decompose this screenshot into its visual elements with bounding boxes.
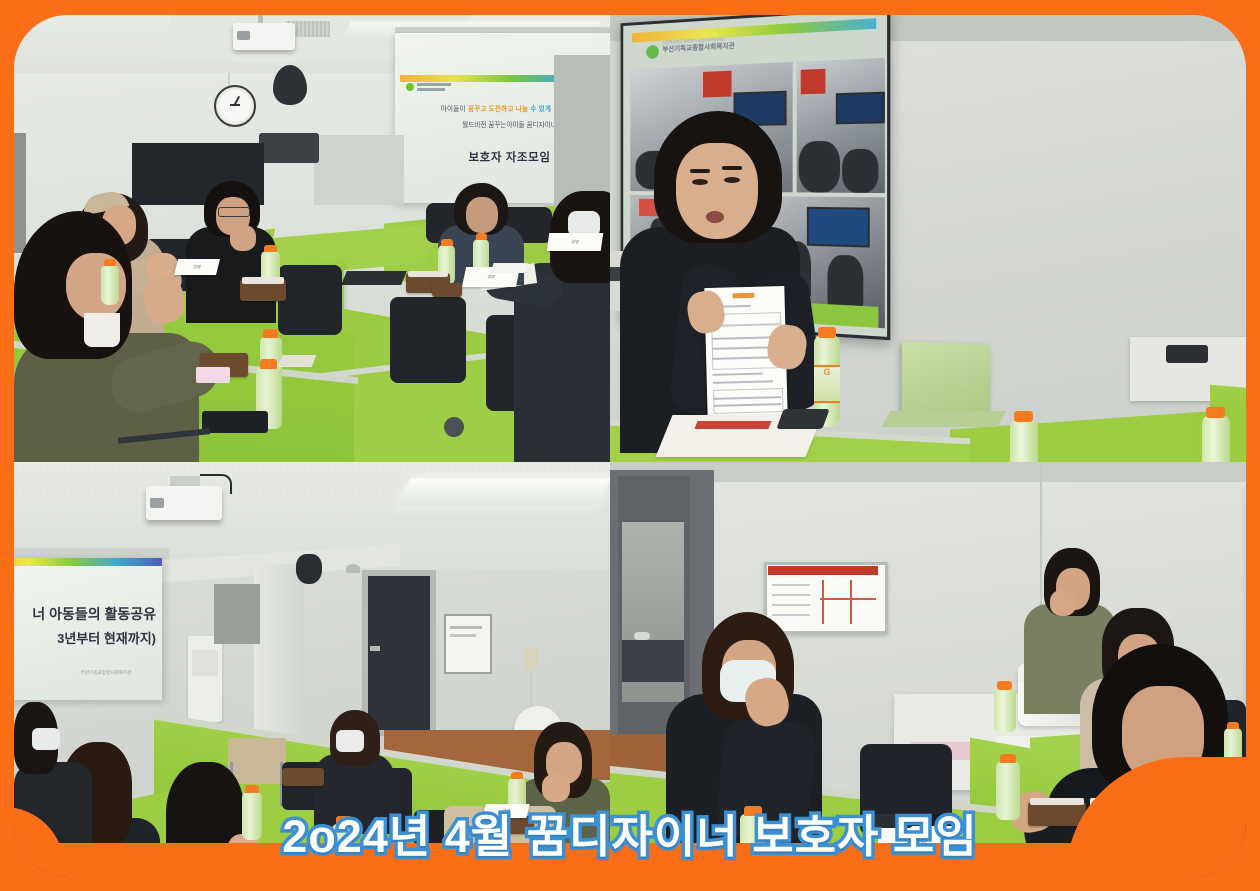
caption-text: 2o24년 4월 꿈디자이너 보호자 모임: [282, 800, 977, 865]
slide-line1: 너 아동들의 활동공유: [14, 604, 156, 624]
snack-box: [282, 768, 324, 786]
bottle-label: G: [814, 365, 840, 403]
drink-bottle: [1202, 415, 1230, 462]
wall-clock-icon: [214, 85, 256, 127]
dome-camera-icon: [346, 564, 360, 573]
caption-banner: 2o24년 4월 꿈디자이너 보호자 모임: [0, 800, 1260, 865]
drink-bottle: [994, 688, 1016, 732]
photo-top-left: 아이들이 꿈꾸고 도전하고 나눌 수 있게 응원하는 월드비전 꿈꾸는아이들 꿈…: [14, 15, 610, 462]
slide-line2: 3년부터 현재까지): [14, 628, 156, 647]
ceiling-speaker-icon: [273, 65, 307, 105]
wall-outlet: [524, 648, 538, 670]
photo-top-right: 사회복지법인 대한예수교장로회복지재단 부산기독교종합사회복지관: [610, 15, 1246, 462]
whiteboard: [444, 614, 492, 674]
phone: [776, 409, 829, 429]
name-card: 성명: [174, 259, 220, 275]
slide-footer: 부산기독교종합사회복지관: [54, 670, 158, 676]
tissue: [278, 355, 317, 367]
drink-bottle: [1010, 419, 1038, 462]
laptop: [902, 341, 991, 420]
name-card: 성명: [547, 233, 604, 251]
poster-frame: 아이들이 꿈꾸고 도전하고 나눌 수 있게 응원하는 월드비전 꿈꾸는아이들 꿈…: [0, 0, 1260, 891]
laptop: [202, 411, 268, 433]
drink-bottle: [101, 265, 119, 305]
air-purifier: [188, 636, 222, 722]
door-handle: [634, 632, 650, 640]
phone: [341, 271, 407, 285]
eyeglasses-icon: [218, 207, 250, 217]
face-mask-icon: [32, 728, 60, 750]
ceiling-speaker-icon: [296, 554, 322, 584]
face-mask-icon: [336, 730, 364, 752]
photo-collage: 아이들이 꿈꾸고 도전하고 나눌 수 있게 응원하는 월드비전 꿈꾸는아이들 꿈…: [14, 15, 1246, 877]
door: [368, 576, 430, 730]
snack-packet: [196, 367, 230, 383]
